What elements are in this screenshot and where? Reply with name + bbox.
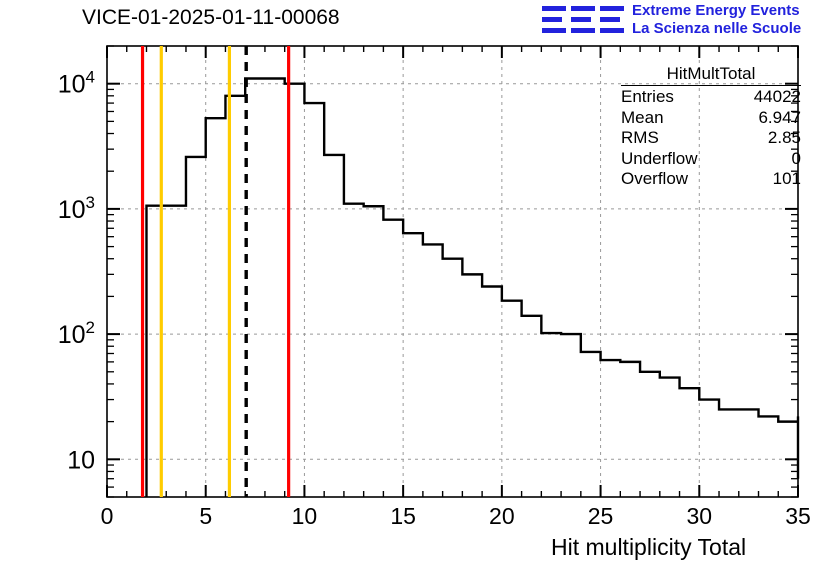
x-tick-label: 20 (489, 503, 515, 529)
stats-row: Overflow101 (621, 169, 801, 190)
stats-row-value: 101 (773, 169, 801, 190)
stats-row-label: Mean (621, 108, 664, 129)
stats-row: Mean6.947 (621, 108, 801, 129)
stats-row-label: Underflow (621, 149, 698, 170)
x-tick-label: 25 (588, 503, 614, 529)
x-tick-label: 0 (101, 503, 114, 529)
stats-row-label: RMS (621, 128, 659, 149)
x-axis-title: Hit multiplicity Total (551, 534, 746, 561)
stats-row-value: 0 (792, 149, 801, 170)
y-tick-label: 102 (58, 318, 95, 349)
x-tick-label: 10 (292, 503, 318, 529)
stats-row-label: Entries (621, 87, 674, 108)
stats-row: Entries44022 (621, 87, 801, 108)
chart-canvas: VICE-01-2025-01-11-00068 Extreme Energy … (0, 0, 836, 572)
y-tick-label: 103 (58, 193, 95, 224)
y-tick-label: 10 (67, 446, 95, 474)
x-tick-label: 5 (199, 503, 212, 529)
x-tick-label: 35 (785, 503, 811, 529)
stats-rows: Entries44022Mean6.947RMS2.85Underflow0Ov… (621, 85, 801, 190)
stats-row: Underflow0 (621, 149, 801, 170)
stats-row-value: 2.85 (768, 128, 801, 149)
stats-row-value: 44022 (754, 87, 801, 108)
stats-row: RMS2.85 (621, 128, 801, 149)
stats-box: HitMultTotal Entries44022Mean6.947RMS2.8… (621, 64, 801, 190)
stats-row-value: 6.947 (758, 108, 801, 129)
x-tick-label: 15 (390, 503, 416, 529)
stats-row-label: Overflow (621, 169, 688, 190)
y-tick-label: 104 (58, 68, 95, 99)
stats-title: HitMultTotal (621, 64, 801, 84)
x-tick-label: 30 (686, 503, 712, 529)
